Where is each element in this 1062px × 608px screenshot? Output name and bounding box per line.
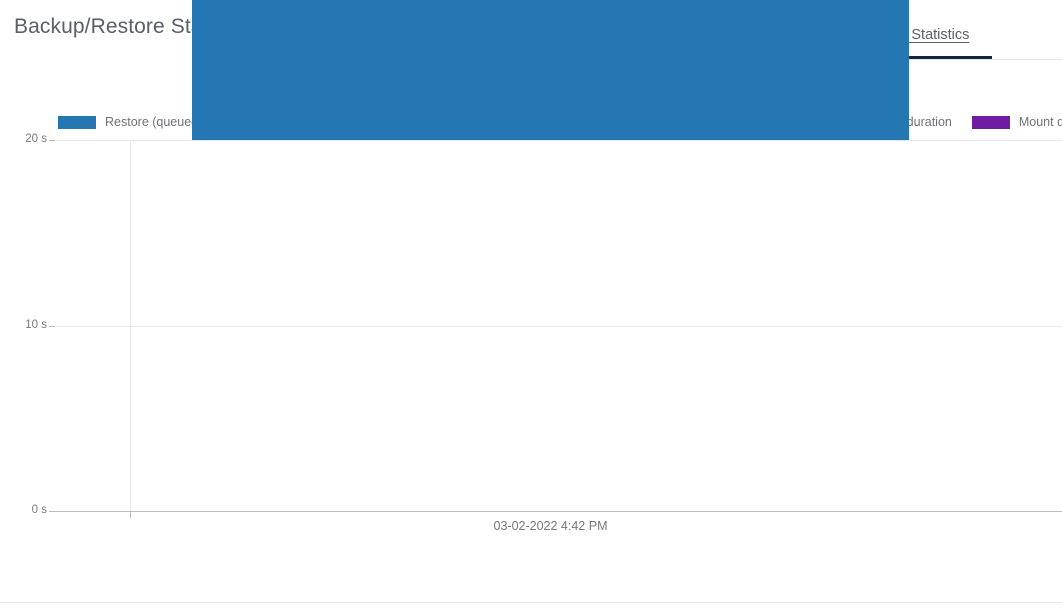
y-tick xyxy=(49,511,55,512)
x-axis-line xyxy=(55,511,1062,512)
plot-area: 20 s 10 s 0 s 03-02-2022 4:42 PM xyxy=(55,140,1062,511)
bar-segment-restore-queued-duration[interactable] xyxy=(192,0,909,140)
gridline-20s xyxy=(55,140,1062,141)
x-axis-tick-label: 03-02-2022 4:42 PM xyxy=(192,519,909,533)
y-tick xyxy=(49,326,55,327)
category-separator xyxy=(130,140,131,511)
footer-divider xyxy=(0,602,1062,603)
legend-swatch-icon xyxy=(972,116,1010,129)
y-axis-tick-label: 20 s xyxy=(7,133,47,145)
legend-label: Mount duration xyxy=(1019,116,1062,129)
gridline-10s xyxy=(55,326,1062,327)
y-axis-tick-label: 10 s xyxy=(7,319,47,331)
y-tick xyxy=(49,140,55,141)
legend-swatch-icon xyxy=(58,116,96,129)
category-tick xyxy=(130,511,131,518)
y-axis-tick-label: 0 s xyxy=(7,504,47,516)
legend-item[interactable]: Mount duration xyxy=(972,116,1062,129)
restore-statistics-chart: Restore (queued) duration Restore Time I… xyxy=(0,61,1062,564)
